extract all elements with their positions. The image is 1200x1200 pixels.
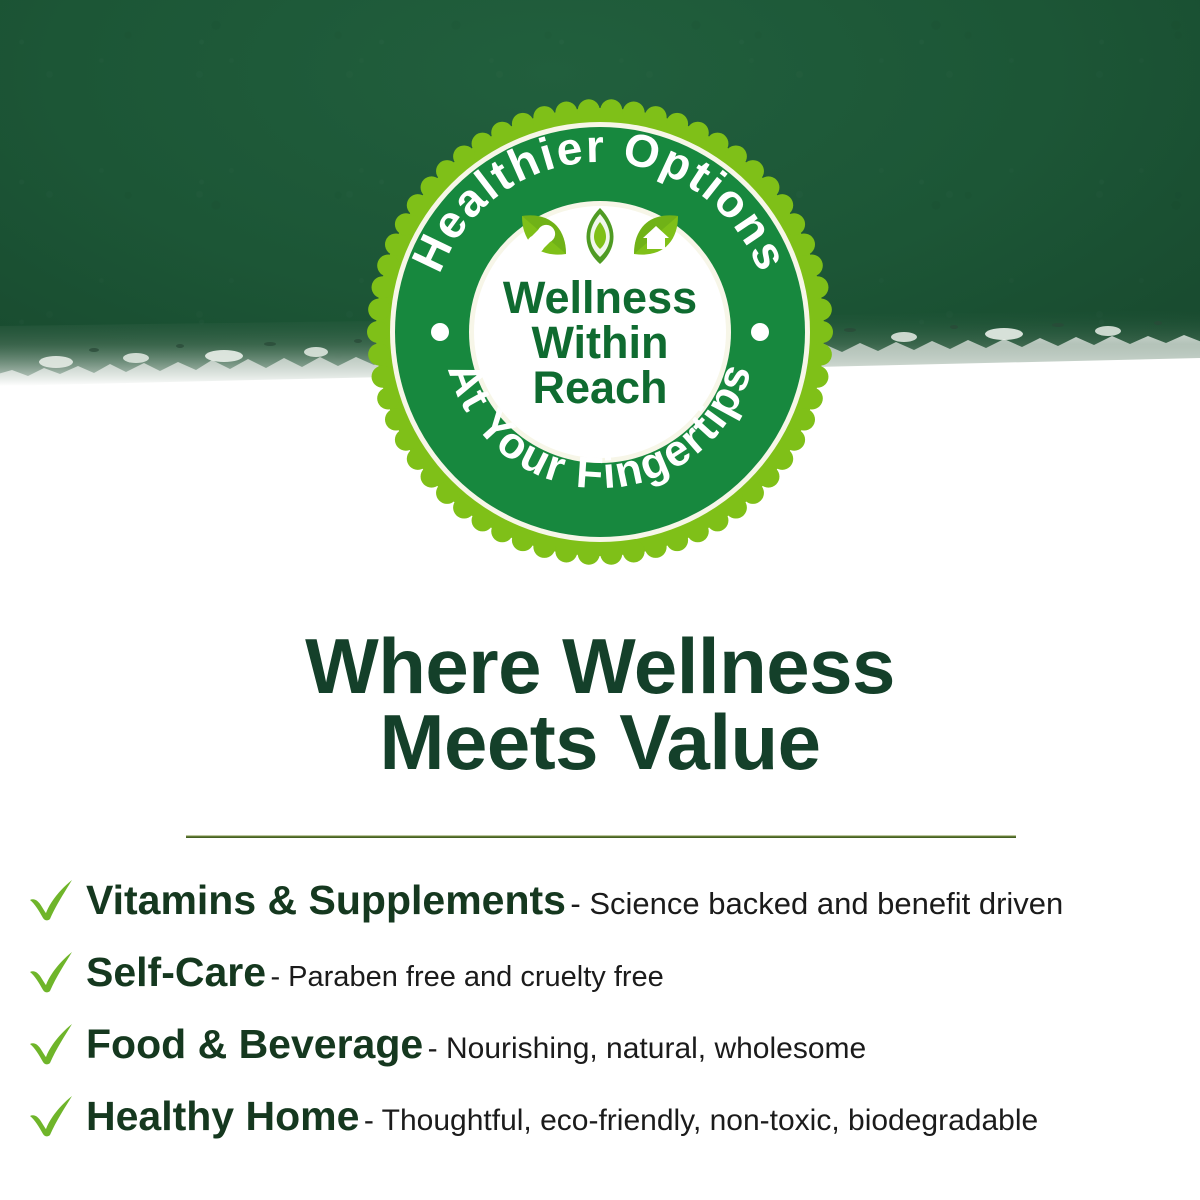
- list-item: Self-Care - Paraben free and cruelty fre…: [26, 938, 1186, 1010]
- benefit-description: - Nourishing, natural, wholesome: [428, 1032, 867, 1065]
- benefits-list: Vitamins & Supplements - Science backed …: [26, 866, 1186, 1154]
- benefit-heading: Self-Care: [86, 949, 266, 995]
- headline-divider: [186, 835, 1016, 838]
- checkmark-icon: [26, 1090, 78, 1138]
- benefit-heading: Food & Beverage: [86, 1021, 423, 1067]
- checkmark-icon: [26, 874, 78, 922]
- benefit-heading: Healthy Home: [86, 1093, 359, 1139]
- seal-center-line-1: Wellness: [503, 272, 697, 323]
- page-headline: Where Wellness Meets Value: [0, 628, 1200, 781]
- wellness-promo-banner: Healthier Options At Your Fingertips: [0, 0, 1200, 1200]
- list-item: Food & Beverage - Nourishing, natural, w…: [26, 1010, 1186, 1082]
- headline-line-2: Meets Value: [0, 704, 1200, 780]
- seal-dot-right: [751, 323, 769, 341]
- wellness-seal-badge: Healthier Options At Your Fingertips: [364, 96, 836, 568]
- list-item: Healthy Home - Thoughtful, eco-friendly,…: [26, 1082, 1186, 1154]
- headline-line-1: Where Wellness: [305, 622, 895, 710]
- list-item: Vitamins & Supplements - Science backed …: [26, 866, 1186, 938]
- seal-dot-left: [431, 323, 449, 341]
- benefit-description: - Paraben free and cruelty free: [270, 961, 663, 993]
- seal-center-line-2: Within: [531, 317, 668, 368]
- checkmark-icon: [26, 946, 78, 994]
- benefit-heading: Vitamins & Supplements: [86, 877, 566, 923]
- benefit-description: - Science backed and benefit driven: [570, 886, 1063, 921]
- benefit-description: - Thoughtful, eco-friendly, non-toxic, b…: [364, 1104, 1038, 1137]
- seal-center-line-3: Reach: [532, 362, 667, 413]
- checkmark-icon: [26, 1018, 78, 1066]
